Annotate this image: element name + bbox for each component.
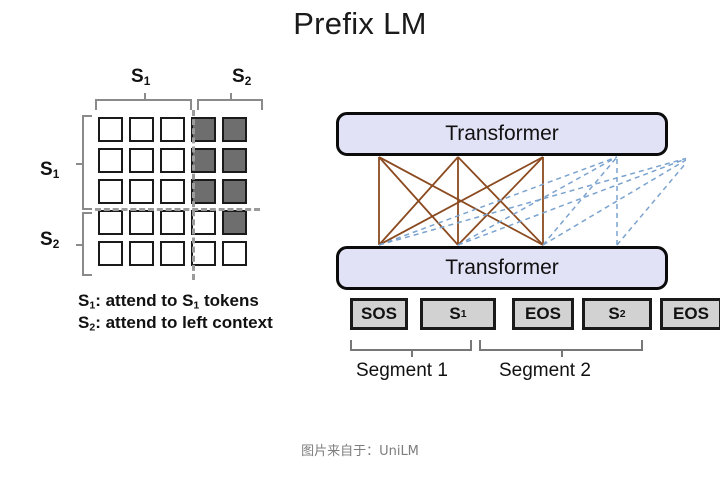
attention-mask-cell-r1-c2[interactable] <box>129 117 154 142</box>
attention-mask-row <box>95 114 250 145</box>
matrix-divider-vertical <box>192 110 195 280</box>
attention-mask-cell-r4-c1[interactable] <box>98 210 123 235</box>
transformer-block-lower-label: Transformer <box>445 256 559 280</box>
segment-1-label: Segment 1 <box>356 360 448 382</box>
slide-canvas: Prefix LM S1 S2 S1 S2 S1: attend to S1 t… <box>0 0 720 479</box>
transformer-block-upper: Transformer <box>336 112 668 156</box>
matrix-col-header-s1: S1 <box>131 66 150 88</box>
attention-mask-cell-r4-c3[interactable] <box>160 210 185 235</box>
matrix-col-bracket-s1 <box>95 99 192 110</box>
attention-mask-row <box>95 145 250 176</box>
attention-mask-cell-r5-c3[interactable] <box>160 241 185 266</box>
attention-mask-cell-r1-c1[interactable] <box>98 117 123 142</box>
token-sos-1[interactable]: SOS <box>350 298 408 330</box>
attention-mask-cell-r2-c3[interactable] <box>160 148 185 173</box>
segment-2-bracket <box>479 340 643 351</box>
attention-mask-cell-r4-c2[interactable] <box>129 210 154 235</box>
transformer-block-upper-label: Transformer <box>445 122 559 146</box>
attention-mask-cell-r4-c5[interactable] <box>222 210 247 235</box>
edge-causal <box>379 157 686 245</box>
transformer-stack-panel: Transformer Transformer SOS S1 EOS S2 EO… <box>336 112 686 387</box>
bracket-tick <box>230 93 232 101</box>
attention-mask-cell-r5-c1[interactable] <box>98 241 123 266</box>
attention-mask-row <box>95 238 250 269</box>
attention-mask-cell-r2-c2[interactable] <box>129 148 154 173</box>
matrix-col-bracket-s2 <box>197 99 263 110</box>
matrix-col-header-s2: S2 <box>232 66 251 88</box>
attention-mask-row <box>95 207 250 238</box>
edge-causal <box>458 157 686 245</box>
segment-2-label: Segment 2 <box>499 360 591 382</box>
transformer-block-lower: Transformer <box>336 246 668 290</box>
attention-mask-cell-r2-c1[interactable] <box>98 148 123 173</box>
bracket-tick <box>561 349 563 357</box>
attention-mask-row <box>95 176 250 207</box>
matrix-row-header-s2: S2 <box>40 229 59 251</box>
page-title: Prefix LM <box>0 6 720 42</box>
edge-causal <box>543 157 686 245</box>
attention-mask-cell-r5-c5[interactable] <box>222 241 247 266</box>
bracket-tick <box>144 93 146 101</box>
edge-causal <box>617 157 686 245</box>
edge-causal <box>543 157 617 245</box>
bracket-tick <box>76 244 84 246</box>
source-caption: 图片来自于：UniLM <box>0 440 720 459</box>
attention-mask-cell-r1-c3[interactable] <box>160 117 185 142</box>
attention-mask-cell-r1-c5[interactable] <box>222 117 247 142</box>
matrix-row-bracket-s1 <box>82 115 92 210</box>
attention-mask-cell-r3-c3[interactable] <box>160 179 185 204</box>
matrix-row-bracket-s2 <box>82 212 92 276</box>
token-eos-2[interactable]: EOS <box>660 298 720 330</box>
token-eos-1[interactable]: EOS <box>512 298 574 330</box>
token-s2[interactable]: S2 <box>582 298 652 330</box>
attention-mask-cell-r2-c5[interactable] <box>222 148 247 173</box>
segment-1-bracket <box>350 340 472 351</box>
attention-mask-cell-r3-c1[interactable] <box>98 179 123 204</box>
edge-causal <box>379 157 617 245</box>
attention-mask-cell-r5-c2[interactable] <box>129 241 154 266</box>
token-s1[interactable]: S1 <box>420 298 496 330</box>
attention-mask-panel: S1 S2 S1 S2 S1: attend to S1 tokens S2: … <box>40 66 320 356</box>
matrix-divider-horizontal <box>95 208 260 211</box>
bracket-tick <box>411 349 413 357</box>
bracket-tick <box>76 163 84 165</box>
attention-mask-cell-r3-c5[interactable] <box>222 179 247 204</box>
attention-mask-grid <box>95 114 250 269</box>
matrix-row-header-s1: S1 <box>40 159 59 181</box>
matrix-legend-line-2: S2: attend to left context <box>78 312 273 339</box>
attention-mask-cell-r3-c2[interactable] <box>129 179 154 204</box>
